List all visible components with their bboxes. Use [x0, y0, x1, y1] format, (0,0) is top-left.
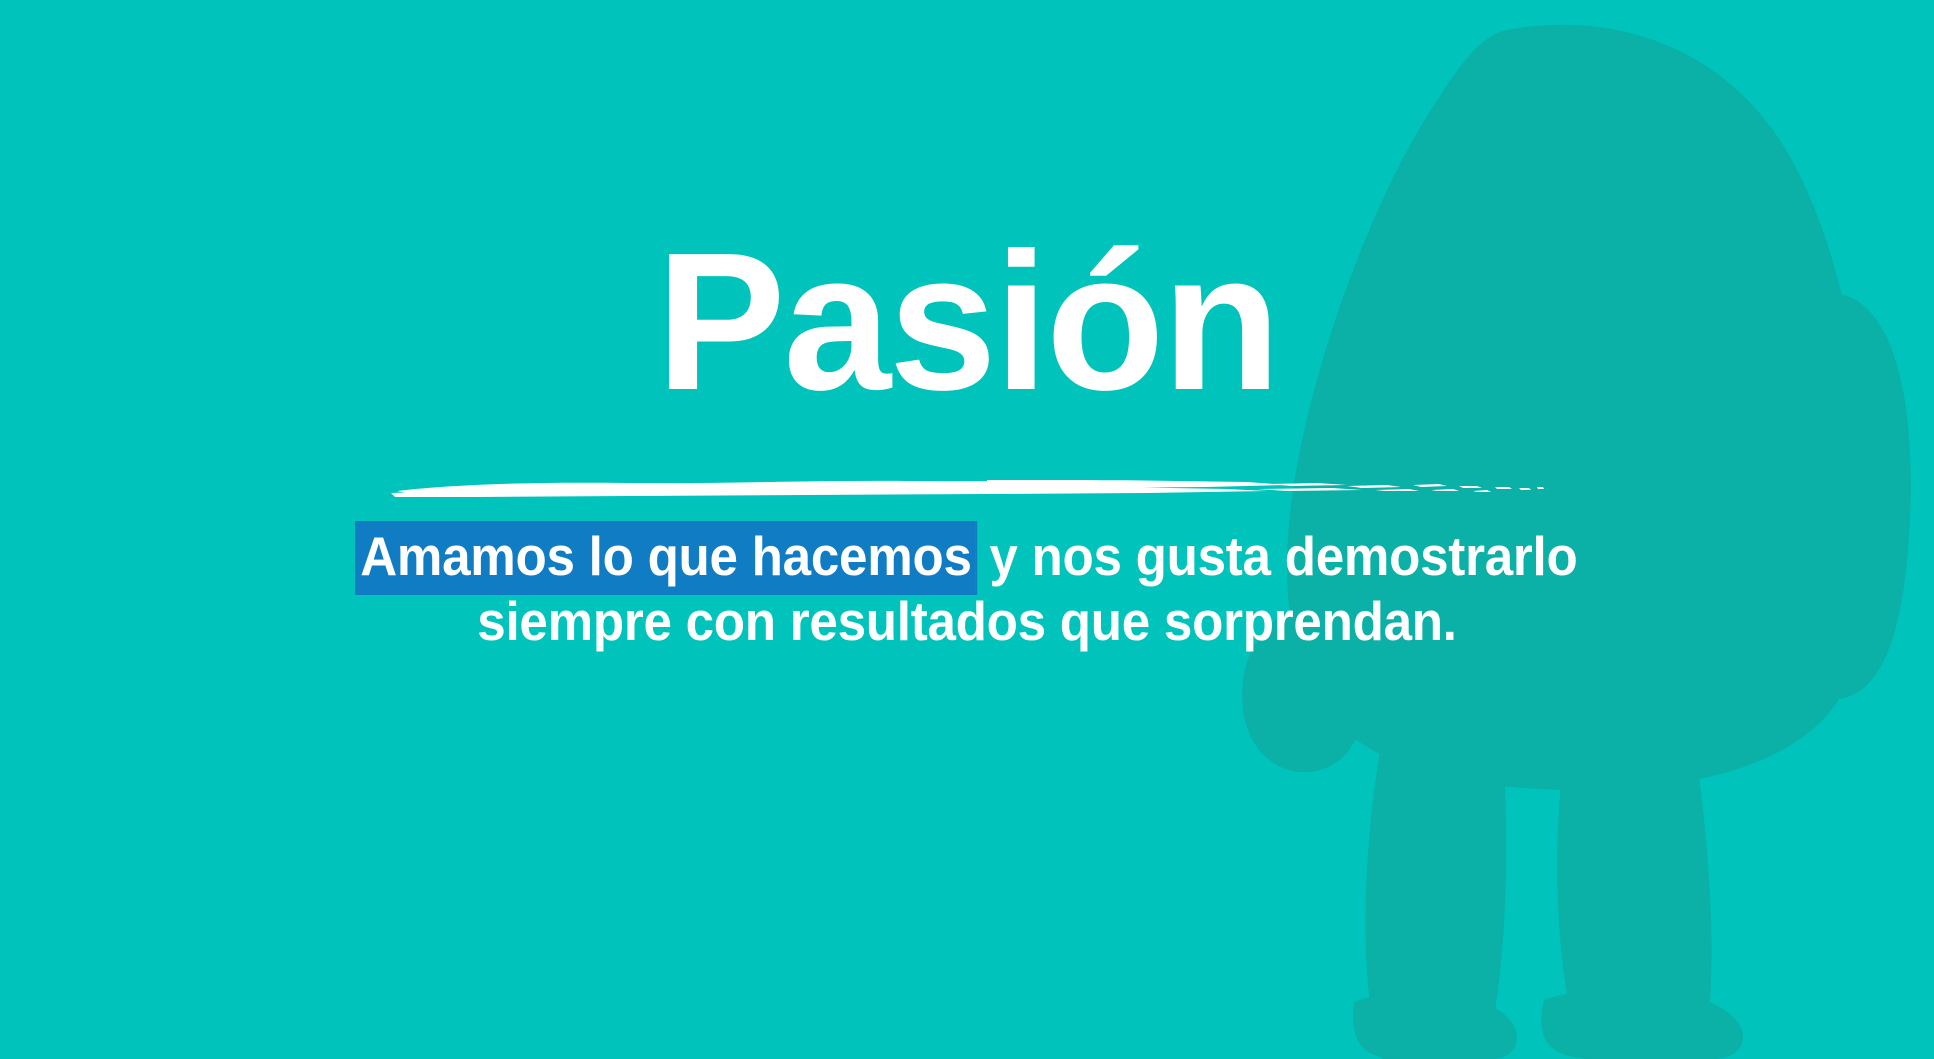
highlighted-phrase: Amamos lo que hacemos	[356, 523, 975, 593]
slide-root: Pasión	[0, 0, 1934, 1059]
slide-content: Pasión	[0, 0, 1934, 1059]
body-copy-line1-rest: y nos gusta demostrarlo	[975, 525, 1577, 587]
brush-stroke-divider	[387, 468, 1547, 506]
body-copy-line2: siempre con resultados que sorprendan.	[242, 589, 1693, 653]
body-copy: Amamos lo que hacemos y nos gusta demost…	[242, 524, 1693, 653]
page-title: Pasión	[656, 232, 1278, 412]
